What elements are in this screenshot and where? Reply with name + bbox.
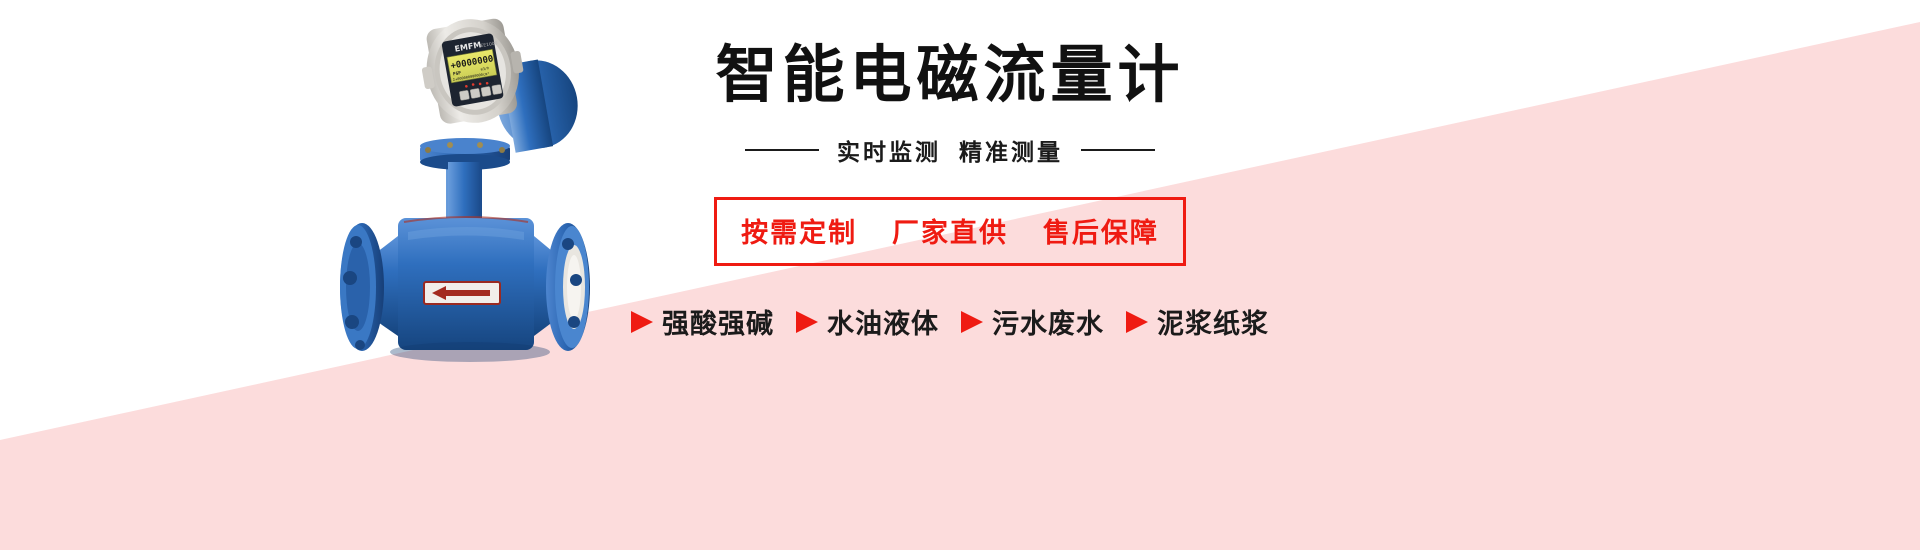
- promise-item-2: 厂家直供: [892, 218, 1008, 249]
- feature-label: 泥浆纸浆: [1157, 302, 1269, 341]
- subtitle-right: 精准测量: [959, 133, 1063, 167]
- divider-line-right: [1081, 149, 1155, 151]
- subtitle-left: 实时监测: [837, 133, 941, 167]
- divider-line-left: [745, 149, 819, 151]
- product-image: EMFM EE1000 +0000000 FGP m3/h Σ+00000000…: [300, 0, 640, 420]
- arrow-right-icon: [796, 311, 818, 333]
- feature-item: 水油液体: [796, 302, 939, 341]
- meter-body: [340, 217, 590, 362]
- flange-left: [340, 223, 384, 351]
- subtitle-row: 实时监测 精准测量: [745, 133, 1155, 167]
- page-title: 智能电磁流量计: [715, 42, 1184, 107]
- feature-label: 水油液体: [827, 302, 939, 341]
- feature-label: 强酸强碱: [662, 302, 774, 341]
- flow-direction-label: [424, 282, 500, 304]
- banner-content: 智能电磁流量计 实时监测 精准测量 按需定制 厂家直供 售后保障 强酸强碱 水油…: [600, 0, 1300, 550]
- feature-item: 污水废水: [961, 302, 1104, 341]
- flange-right: [546, 223, 590, 351]
- feature-item: 强酸强碱: [631, 302, 774, 341]
- product-banner: EMFM EE1000 +0000000 FGP m3/h Σ+00000000…: [0, 0, 1920, 550]
- promise-box: 按需定制 厂家直供 售后保障: [714, 197, 1186, 266]
- feature-item: 泥浆纸浆: [1126, 302, 1269, 341]
- promise-item-3: 售后保障: [1043, 218, 1159, 249]
- feature-list: 强酸强碱 水油液体 污水废水 泥浆纸浆: [631, 302, 1269, 341]
- feature-label: 污水废水: [992, 302, 1104, 341]
- arrow-right-icon: [631, 311, 653, 333]
- promise-item-1: 按需定制: [741, 218, 857, 249]
- arrow-right-icon: [1126, 311, 1148, 333]
- arrow-right-icon: [961, 311, 983, 333]
